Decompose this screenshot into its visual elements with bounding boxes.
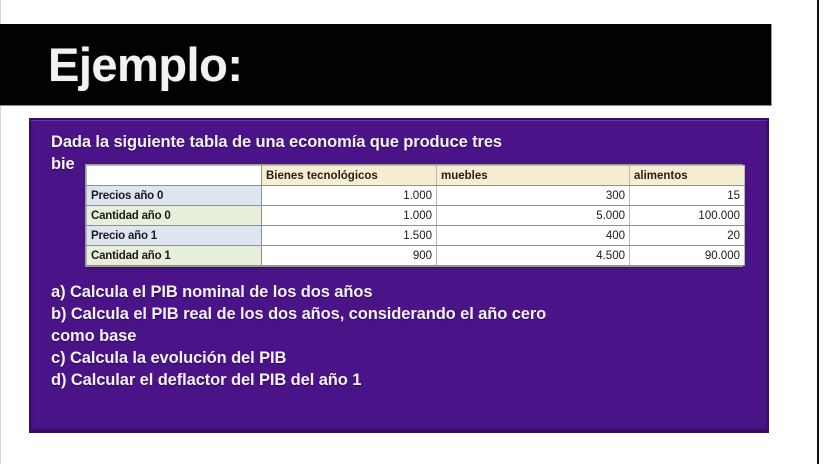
cell-precio-ano-1-alimentos: 20	[630, 226, 745, 246]
cell-precio-ano-1-muebles: 400	[437, 226, 630, 246]
cell-cantidad-ano-0-muebles: 5.000	[437, 206, 630, 226]
cell-cantidad-ano-1-muebles: 4.500	[437, 246, 630, 266]
economy-data-table: Bienes tecnológicos muebles alimentos Pr…	[86, 165, 745, 266]
row-label-cantidad-ano-0: Cantidad año 0	[87, 206, 262, 226]
table-corner-cell	[87, 166, 262, 186]
question-list: a) Calcula el PIB nominal de los dos año…	[51, 281, 761, 391]
cell-cantidad-ano-1-bienes: 900	[262, 246, 437, 266]
content-panel: Dada la siguiente tabla de una economía …	[29, 118, 769, 433]
table-row: Cantidad año 0 1.000 5.000 100.000	[87, 206, 745, 226]
table-row: Precio año 1 1.500 400 20	[87, 226, 745, 246]
table-row: Cantidad año 1 900 4.500 90.000	[87, 246, 745, 266]
row-label-cantidad-ano-1: Cantidad año 1	[87, 246, 262, 266]
page-title: Ejemplo:	[48, 38, 242, 92]
cell-precios-ano-0-muebles: 300	[437, 186, 630, 206]
cell-cantidad-ano-1-alimentos: 90.000	[630, 246, 745, 266]
table-row: Precios año 0 1.000 300 15	[87, 186, 745, 206]
cell-precios-ano-0-bienes: 1.000	[262, 186, 437, 206]
slide-root: Ejemplo: Dada la siguiente tabla de una …	[0, 0, 825, 464]
column-header-bienes-tecnologicos: Bienes tecnológicos	[262, 166, 437, 186]
cell-precios-ano-0-alimentos: 15	[630, 186, 745, 206]
question-item-a: a) Calcula el PIB nominal de los dos año…	[51, 281, 761, 303]
column-header-alimentos: alimentos	[630, 166, 745, 186]
intro-line-1: Dada la siguiente tabla de una economía …	[51, 131, 751, 153]
question-item-d: d) Calcular el deflactor del PIB del año…	[51, 369, 761, 391]
cell-precio-ano-1-bienes: 1.500	[262, 226, 437, 246]
data-table-container: Bienes tecnológicos muebles alimentos Pr…	[85, 164, 743, 267]
right-frame-line	[817, 0, 819, 464]
cell-cantidad-ano-0-bienes: 1.000	[262, 206, 437, 226]
question-item-b-continuation: como base	[51, 325, 761, 347]
row-label-precios-ano-0: Precios año 0	[87, 186, 262, 206]
question-item-b: b) Calcula el PIB real de los dos años, …	[51, 303, 761, 325]
row-label-precio-ano-1: Precio año 1	[87, 226, 262, 246]
question-item-c: c) Calcula la evolución del PIB	[51, 347, 761, 369]
table-header-row: Bienes tecnológicos muebles alimentos	[87, 166, 745, 186]
column-header-muebles: muebles	[437, 166, 630, 186]
cell-cantidad-ano-0-alimentos: 100.000	[630, 206, 745, 226]
title-banner: Ejemplo:	[0, 24, 772, 106]
